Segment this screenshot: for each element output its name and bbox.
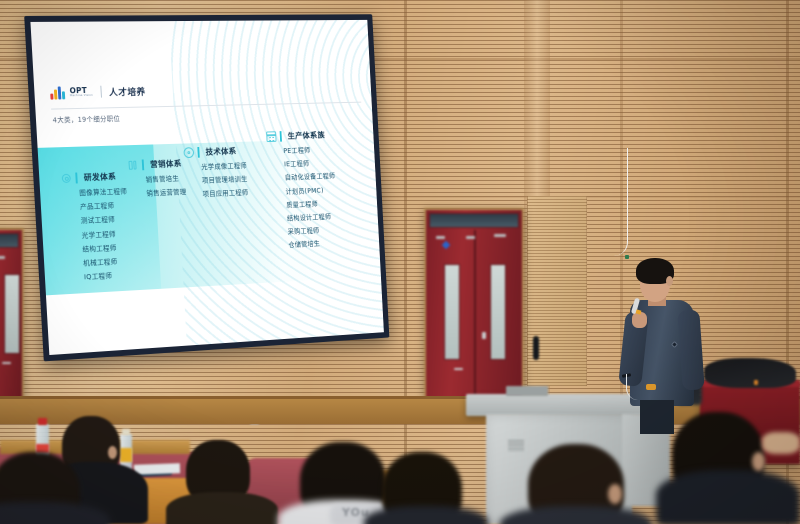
column-item: IE工程师 <box>284 157 335 168</box>
column-title: 技术体系 <box>205 146 236 158</box>
wall-microphone-icon <box>533 336 539 360</box>
slide-header: OPT Machine Vision 人才培养 <box>33 71 371 110</box>
column-item: 仓储管培生 <box>288 237 339 249</box>
audience-face-profile <box>762 432 800 454</box>
column-item: 产品工程师 <box>80 199 128 211</box>
door-sticker <box>442 241 450 249</box>
column-item: 质量工程师 <box>286 197 337 209</box>
header-divider <box>100 86 102 98</box>
column-technology: 技术体系 光学成像工程师 项目管理培训生 项目应用工程师 <box>183 146 248 204</box>
audience-shoulders-foreground <box>656 470 800 524</box>
column-marketing: 营销体系 销售管培生 销售运营管理 <box>127 158 186 202</box>
cable-end-connector <box>625 255 629 259</box>
column-item: 销售运营管理 <box>146 186 186 197</box>
column-accent-bar <box>280 131 282 142</box>
column-item: 计划员(PMC) <box>285 184 336 195</box>
door-hinge <box>466 236 475 239</box>
column-accent-bar <box>197 147 199 158</box>
molecule-icon <box>61 173 72 184</box>
column-item: 光学工程师 <box>81 227 129 239</box>
header-underline <box>51 102 361 110</box>
column-title: 生产体系族 <box>287 130 325 142</box>
coat-tag <box>754 380 758 385</box>
column-item: 销售管培生 <box>145 173 186 184</box>
audience-ear <box>108 446 117 459</box>
podium-vent <box>508 440 524 451</box>
door-transom <box>429 213 519 228</box>
draped-coat <box>704 358 796 388</box>
column-item: 结构工程师 <box>82 241 130 253</box>
door-closer <box>494 234 506 237</box>
column-item: PE工程师 <box>283 144 334 155</box>
bottle-cap <box>38 418 47 425</box>
column-item: 项目管理培训生 <box>202 174 248 185</box>
column-item: 机械工程师 <box>83 255 131 267</box>
bottle-label <box>120 448 132 462</box>
speaker-ear <box>666 276 673 286</box>
hanging-cable <box>598 148 628 256</box>
logo-mark-icon <box>50 86 67 99</box>
column-item: 测试工程师 <box>81 213 129 225</box>
door-glass <box>4 274 20 354</box>
screen-bezel: OPT Machine Vision 人才培养 4大类，19个细分职位 <box>24 14 389 361</box>
column-title: 研发体系 <box>84 171 117 183</box>
opt-logo: OPT Machine Vision <box>50 85 93 99</box>
podium-monitor-lid[interactable] <box>506 386 548 396</box>
audience-ear <box>752 452 765 471</box>
center-exit-door[interactable] <box>424 208 524 400</box>
column-item: 采购工程师 <box>287 224 338 236</box>
column-item: 光学成像工程师 <box>201 160 247 171</box>
column-item: 自动化设备工程师 <box>285 171 336 182</box>
door-handle[interactable] <box>454 368 463 370</box>
screen-surface: OPT Machine Vision 人才培养 4大类，19个细分职位 <box>30 20 383 355</box>
column-title: 营销体系 <box>150 158 182 170</box>
lanyard-detail <box>646 384 656 390</box>
bottle-cap <box>122 429 130 435</box>
door-transom <box>0 233 19 248</box>
column-accent-bar <box>75 173 77 184</box>
gear-icon <box>183 147 194 158</box>
podium-desktop <box>466 394 644 416</box>
logo-subtext: Machine Vision <box>70 94 93 97</box>
door-hinge <box>436 236 445 239</box>
slide-subtitle: 4大类，19个细分职位 <box>52 113 120 125</box>
door-lock[interactable] <box>482 332 486 339</box>
slide: OPT Machine Vision 人才培养 4大类，19个细分职位 <box>30 20 383 355</box>
column-item: 项目应用工程师 <box>202 187 248 198</box>
auditorium-photo: OPT Machine Vision 人才培养 4大类，19个细分职位 <box>0 0 800 524</box>
door-hinge <box>0 256 5 259</box>
speaker-legs <box>640 400 674 434</box>
door-center-split <box>474 230 476 396</box>
audience-ear <box>608 484 622 504</box>
book-icon <box>127 160 138 171</box>
column-item: 结构设计工程师 <box>287 211 338 223</box>
slide-header-title: 人才培养 <box>109 84 146 97</box>
projection-screen: OPT Machine Vision 人才培养 4大类，19个细分职位 <box>24 14 389 361</box>
column-item: 图像算法工程师 <box>79 186 127 198</box>
column-accent-bar <box>142 159 144 170</box>
door-glass <box>490 264 506 360</box>
column-production: 生产体系族 PE工程师 IE工程师 自动化设备工程师 计划员(PMC) 质量工程… <box>266 130 339 255</box>
column-item: IQ工程师 <box>84 269 132 281</box>
wall-panel-gap <box>404 0 407 524</box>
door-handle[interactable] <box>2 362 11 364</box>
paper-sheet <box>134 463 180 475</box>
slide-columns: 研发体系 图像算法工程师 产品工程师 测试工程师 光学工程师 结构工程师 机械工… <box>37 129 384 355</box>
column-rnd: 研发体系 图像算法工程师 产品工程师 测试工程师 光学工程师 结构工程师 机械工… <box>61 171 133 287</box>
left-exit-door[interactable] <box>0 228 24 406</box>
door-glass <box>444 264 460 360</box>
calendar-icon <box>266 131 276 142</box>
audience-shoulders <box>166 492 278 524</box>
